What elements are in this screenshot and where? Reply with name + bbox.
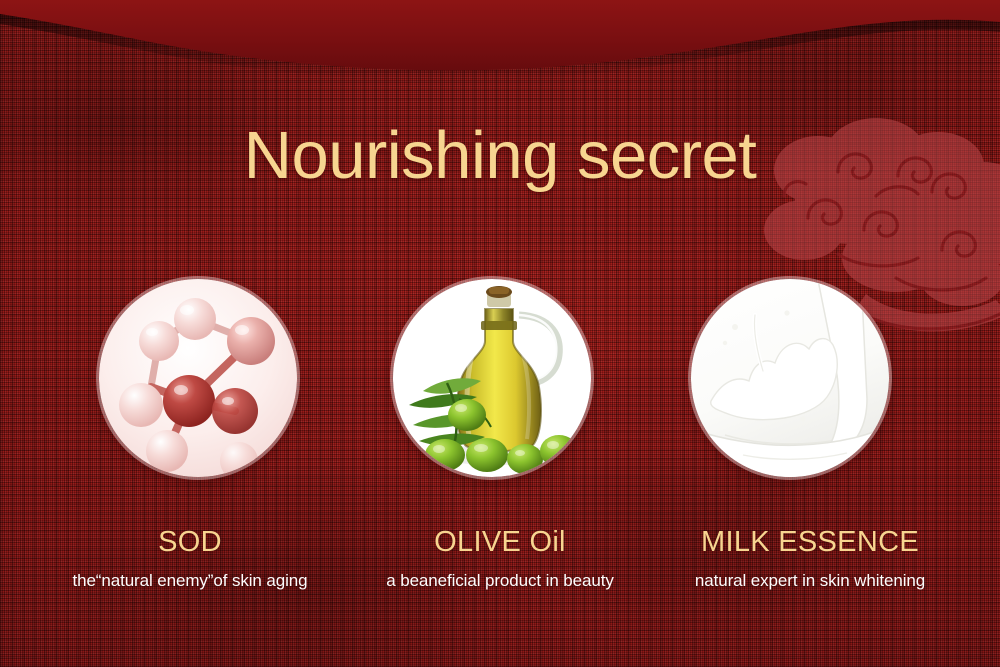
ingredient-labels-row: SOD the“natural enemy”of skin aging OLIV…	[0, 526, 1000, 616]
ingredient-circle-olive-oil[interactable]	[393, 279, 591, 477]
molecule-spheres-image	[99, 279, 297, 477]
label-group-milk-essence: MILK ESSENCE natural expert in skin whit…	[640, 526, 980, 591]
page-title: Nourishing secret	[0, 122, 1000, 189]
milk-splash-image	[691, 279, 889, 477]
ingredient-circles-row	[0, 279, 1000, 479]
ingredient-subtitle-milk-essence: natural expert in skin whitening	[640, 571, 980, 591]
nourishing-secret-banner: Nourishing secret	[0, 0, 1000, 667]
ingredient-title-milk-essence: MILK ESSENCE	[640, 526, 980, 559]
ingredient-title-olive-oil: OLIVE Oil	[340, 526, 660, 559]
ingredient-title-sod: SOD	[20, 526, 360, 559]
ingredient-subtitle-olive-oil: a beaneficial product in beauty	[340, 571, 660, 591]
top-wave-band	[0, 0, 1000, 100]
label-group-sod: SOD the“natural enemy”of skin aging	[20, 526, 360, 591]
label-group-olive-oil: OLIVE Oil a beaneficial product in beaut…	[340, 526, 660, 591]
ingredient-circle-milk-essence[interactable]	[691, 279, 889, 477]
ingredient-circle-sod[interactable]	[99, 279, 297, 477]
ingredient-subtitle-sod: the“natural enemy”of skin aging	[20, 571, 360, 591]
olive-oil-bottle-image	[393, 279, 591, 477]
